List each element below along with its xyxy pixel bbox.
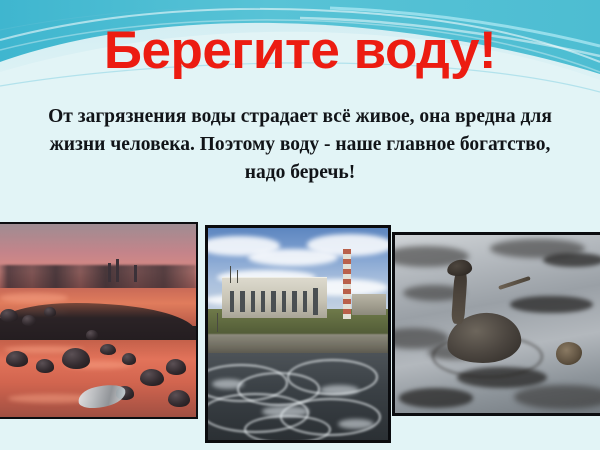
photo-band [0,215,600,450]
oiled-swan-artwork [395,235,600,413]
factory-river-artwork [208,228,388,440]
factory-river-photo [205,225,391,443]
page-title: Берегите воду! [0,20,600,82]
polluted-river-photo [0,222,198,419]
oiled-swan-photo [392,232,600,416]
slide-body-text: От загрязнения воды страдает всё живое, … [38,103,562,187]
polluted-river-artwork [0,224,196,417]
presentation-slide: Берегите воду! От загрязнения воды страд… [0,0,600,450]
